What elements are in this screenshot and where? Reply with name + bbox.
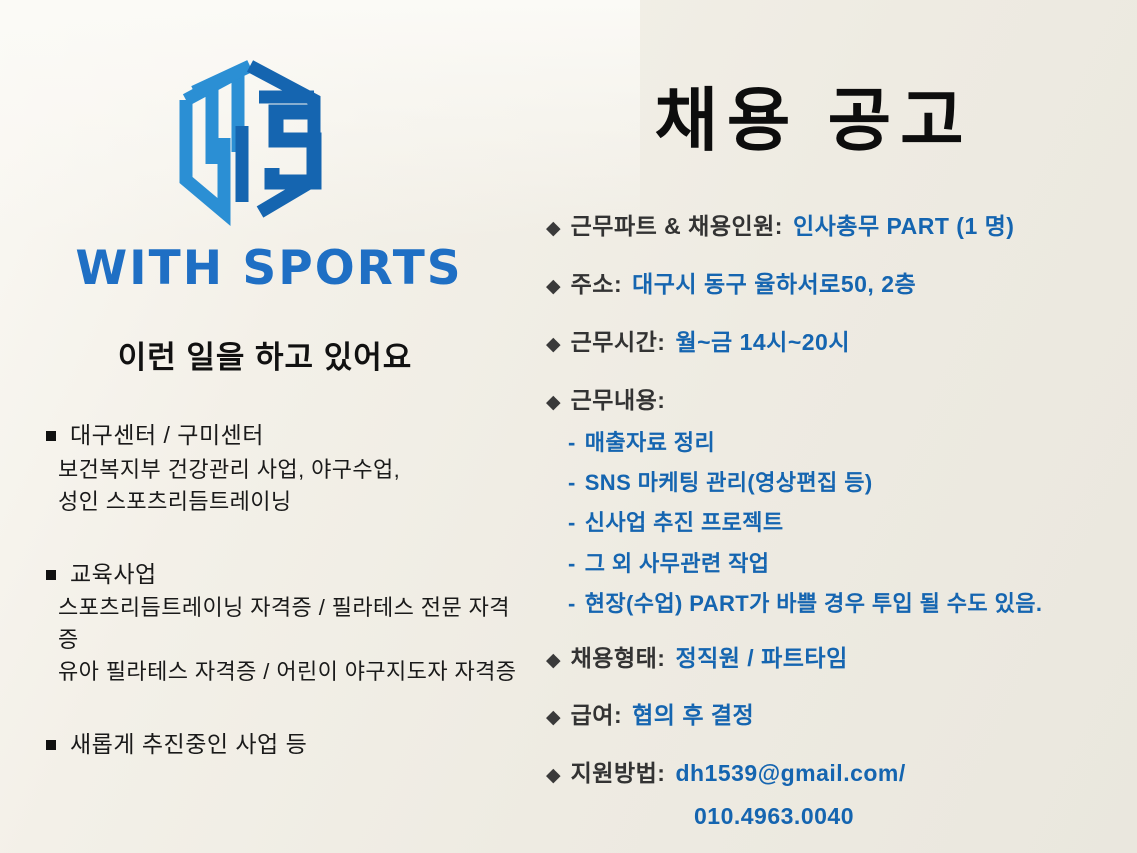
field-label: 근무시간: xyxy=(571,328,666,358)
field-salary: ◆ 급여: 협의 후 결정 xyxy=(546,701,1137,731)
dash-bullet-icon: - xyxy=(568,430,576,456)
hexagon-ws-monogram-icon xyxy=(164,52,374,237)
activity-detail: 스포츠리듬트레이닝 자격증 / 필라테스 전문 자격증 유아 필라테스 자격증 … xyxy=(58,592,520,688)
diamond-bullet-icon: ◆ xyxy=(546,335,561,354)
field-label: 지원방법: xyxy=(571,759,666,789)
duty-text: SNS 마케팅 관리(영상편집 등) xyxy=(585,470,873,496)
activity-title: 교육사업 xyxy=(70,560,157,589)
dash-bullet-icon: - xyxy=(568,510,576,536)
job-details-list: ◆ 근무파트 & 채용인원: 인사총무 PART (1 명) ◆ 주소: 대구시… xyxy=(520,212,1137,830)
field-label: 채용형태: xyxy=(571,644,666,674)
diamond-bullet-icon: ◆ xyxy=(546,277,561,296)
diamond-bullet-icon: ◆ xyxy=(546,219,561,238)
square-bullet-icon xyxy=(46,570,56,580)
page-title: 채용 공고 xyxy=(520,64,1137,164)
field-value: 월~금 14시~20시 xyxy=(675,328,850,358)
field-employment-type: ◆ 채용형태: 정직원 / 파트타임 xyxy=(546,644,1137,674)
left-heading: 이런 일을 하고 있어요 xyxy=(0,332,520,377)
duties-container: - 매출자료 정리 - SNS 마케팅 관리(영상편집 등) - 신사업 추진 … xyxy=(546,430,1137,618)
duty-text: 현장(수업) PART가 바쁠 경우 투입 될 수도 있음. xyxy=(585,591,1043,617)
duty-text: 신사업 추진 프로젝트 xyxy=(585,510,784,536)
diamond-bullet-icon: ◆ xyxy=(546,708,561,727)
brand-logo: WITH SPORTS xyxy=(0,52,520,296)
duty-item: - 신사업 추진 프로젝트 xyxy=(568,510,1137,536)
left-column: WITH SPORTS 이런 일을 하고 있어요 대구센터 / 구미센터 보건복… xyxy=(0,0,520,853)
diamond-bullet-icon: ◆ xyxy=(546,651,561,670)
activity-title-row: 교육사업 xyxy=(46,560,520,589)
duty-item: - SNS 마케팅 관리(영상편집 등) xyxy=(568,470,1137,496)
job-posting-poster: WITH SPORTS 이런 일을 하고 있어요 대구센터 / 구미센터 보건복… xyxy=(0,0,1137,853)
activity-title-row: 새롭게 추진중인 사업 등 xyxy=(46,730,520,759)
duty-item: - 그 외 사무관련 작업 xyxy=(568,551,1137,577)
field-label: 근무내용: xyxy=(571,386,666,416)
field-value: 인사총무 PART (1 명) xyxy=(793,212,1014,242)
square-bullet-icon xyxy=(46,431,56,441)
activity-title: 대구센터 / 구미센터 xyxy=(70,421,264,450)
contact-phone[interactable]: 010.4963.0040 xyxy=(546,803,1137,830)
square-bullet-icon xyxy=(46,740,56,750)
field-label: 급여: xyxy=(571,701,622,731)
activity-item: 교육사업 스포츠리듬트레이닝 자격증 / 필라테스 전문 자격증 유아 필라테스… xyxy=(46,560,520,688)
field-label: 주소: xyxy=(571,270,622,300)
dash-bullet-icon: - xyxy=(568,551,576,577)
duty-text: 그 외 사무관련 작업 xyxy=(585,551,770,577)
field-value: 정직원 / 파트타임 xyxy=(675,644,847,674)
field-how-to-apply: ◆ 지원방법: dh1539@gmail.com/ xyxy=(546,759,1137,789)
field-address: ◆ 주소: 대구시 동구 율하서로50, 2층 xyxy=(546,270,1137,300)
activity-item: 대구센터 / 구미센터 보건복지부 건강관리 사업, 야구수업, 성인 스포츠리… xyxy=(46,421,520,518)
field-duties-header: ◆ 근무내용: xyxy=(546,386,1137,416)
right-column: 채용 공고 ◆ 근무파트 & 채용인원: 인사총무 PART (1 명) ◆ 주… xyxy=(520,0,1137,853)
duty-item: - 매출자료 정리 xyxy=(568,430,1137,456)
brand-wordmark: WITH SPORTS xyxy=(18,241,520,296)
diamond-bullet-icon: ◆ xyxy=(546,393,561,412)
activities-list: 대구센터 / 구미센터 보건복지부 건강관리 사업, 야구수업, 성인 스포츠리… xyxy=(0,421,520,759)
activity-title-row: 대구센터 / 구미센터 xyxy=(46,421,520,450)
duty-item: - 현장(수업) PART가 바쁠 경우 투입 될 수도 있음. xyxy=(568,591,1137,617)
activity-detail: 보건복지부 건강관리 사업, 야구수업, 성인 스포츠리듬트레이닝 xyxy=(58,454,520,518)
duty-text: 매출자료 정리 xyxy=(585,430,715,456)
poster-content: WITH SPORTS 이런 일을 하고 있어요 대구센터 / 구미센터 보건복… xyxy=(0,0,1137,853)
field-work-hours: ◆ 근무시간: 월~금 14시~20시 xyxy=(546,328,1137,358)
field-work-part: ◆ 근무파트 & 채용인원: 인사총무 PART (1 명) xyxy=(546,212,1137,242)
diamond-bullet-icon: ◆ xyxy=(546,766,561,785)
apply-email[interactable]: dh1539@gmail.com/ xyxy=(675,759,905,789)
field-label: 근무파트 & 채용인원: xyxy=(571,212,783,242)
duties-list: - 매출자료 정리 - SNS 마케팅 관리(영상편집 등) - 신사업 추진 … xyxy=(546,430,1137,618)
activity-item: 새롭게 추진중인 사업 등 xyxy=(46,730,520,759)
contact-phone-row: 010.4963.0040 xyxy=(546,803,1137,830)
dash-bullet-icon: - xyxy=(568,470,576,496)
activity-title: 새롭게 추진중인 사업 등 xyxy=(70,730,307,759)
dash-bullet-icon: - xyxy=(568,591,576,617)
field-value: 협의 후 결정 xyxy=(632,701,754,731)
field-value: 대구시 동구 율하서로50, 2층 xyxy=(632,270,916,300)
